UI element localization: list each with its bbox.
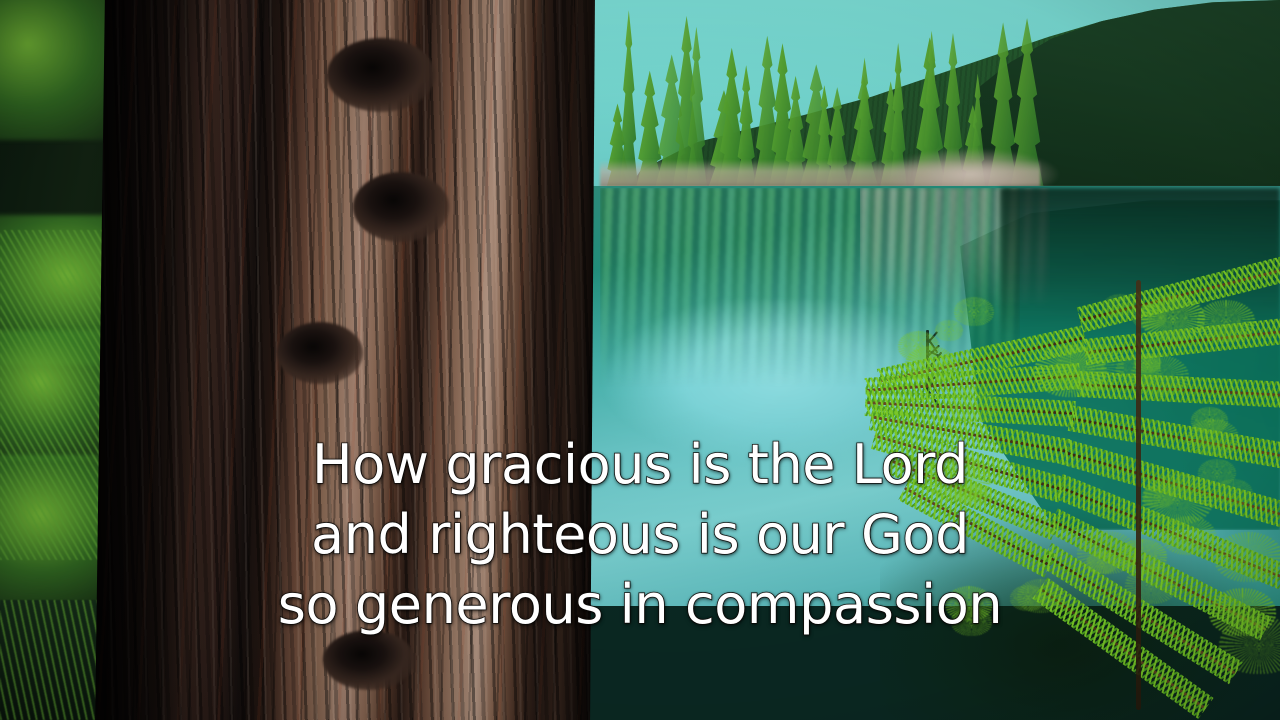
needle-tuft bbox=[1214, 532, 1280, 581]
needle-tuft bbox=[1056, 342, 1125, 392]
needle-tuft bbox=[948, 386, 999, 423]
shoreline-brush bbox=[880, 138, 1060, 190]
needle-tuft bbox=[1197, 300, 1255, 342]
needle-tuft bbox=[1191, 407, 1228, 434]
bark-knot-bottom bbox=[323, 630, 415, 690]
needle-tuft bbox=[1209, 588, 1276, 636]
trunk-shadow-left bbox=[95, 0, 255, 720]
needle-tuft bbox=[1161, 516, 1216, 556]
needle-tuft bbox=[954, 297, 994, 326]
needle-tuft bbox=[935, 320, 963, 340]
bark-knot-top bbox=[327, 38, 435, 112]
conifer-branch-spray bbox=[880, 280, 1280, 720]
needle-tuft bbox=[951, 607, 992, 636]
needle-tuft bbox=[905, 346, 956, 383]
needle-tuft bbox=[957, 484, 988, 507]
needle-tuft bbox=[1010, 585, 1046, 611]
foreground-tree-trunk bbox=[95, 0, 595, 720]
trunk-shadow-right bbox=[505, 0, 595, 720]
video-frame: How gracious is the Lord and righteous i… bbox=[0, 0, 1280, 720]
bark-knot-lower bbox=[277, 322, 363, 384]
conifer-leader-stem bbox=[1136, 280, 1141, 710]
needle-tuft bbox=[1086, 551, 1118, 574]
needle-tuft bbox=[1125, 566, 1177, 603]
bark-knot-mid bbox=[353, 172, 449, 242]
